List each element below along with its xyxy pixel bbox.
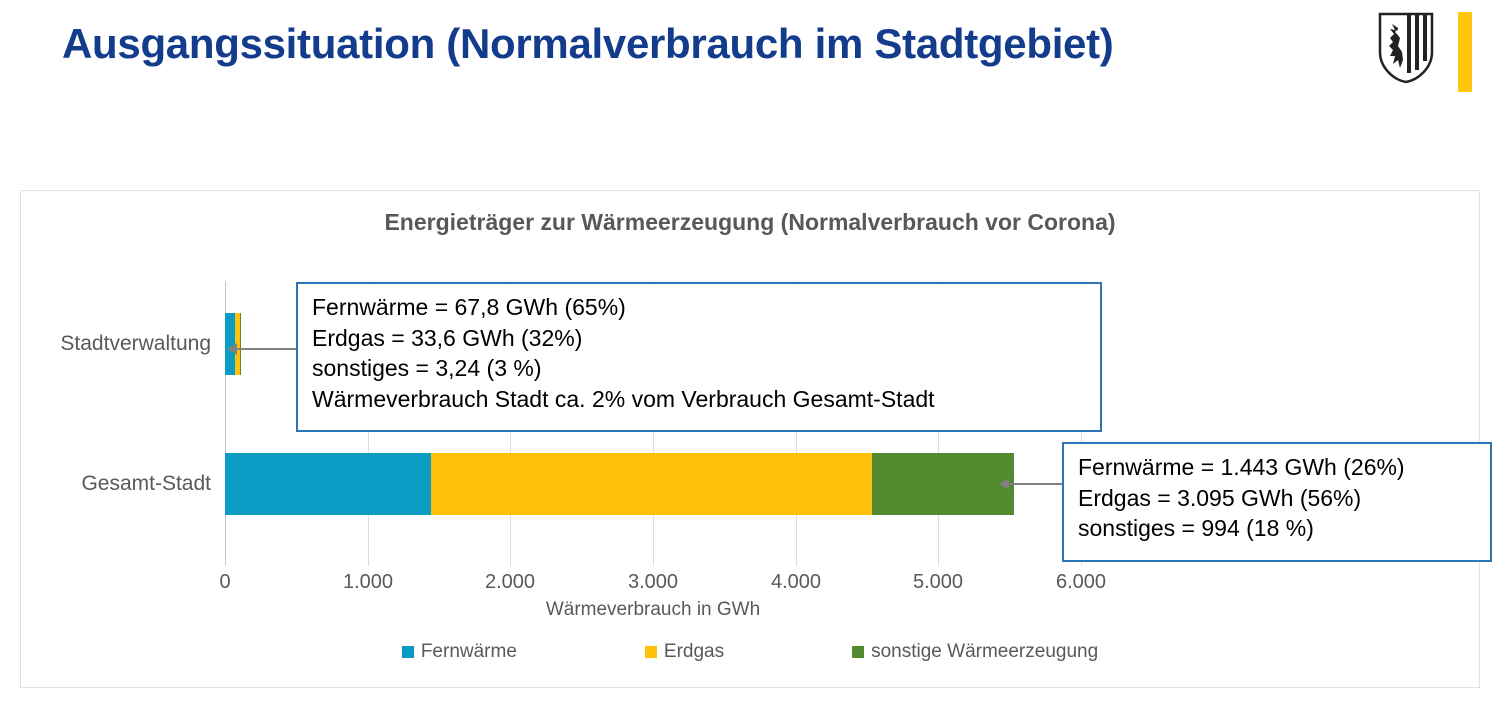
legend-item-erdgas[interactable]: Erdgas [645, 641, 724, 663]
x-tick-2000: 2.000 [485, 571, 535, 594]
callout-stadtverwaltung: Fernwärme = 67,8 GWh (65%) Erdgas = 33,6… [296, 282, 1102, 432]
x-tick-0: 0 [219, 571, 230, 594]
chart-legend: Fernwärme Erdgas sonstige Wärmeerzeugung [21, 641, 1479, 663]
legend-swatch-fernwaerme [402, 646, 414, 658]
callout-line: Fernwärme = 1.443 GWh (26%) [1078, 452, 1476, 483]
x-tick-6000: 6.000 [1056, 571, 1106, 594]
category-label-stadtverwaltung: Stadtverwaltung [60, 313, 211, 375]
callout-line: sonstiges = 3,24 (3 %) [312, 353, 1086, 384]
bar-segment-sonstige-stadtverwaltung [240, 313, 241, 375]
callout-line: Fernwärme = 67,8 GWh (65%) [312, 292, 1086, 323]
x-axis-title: Wärmeverbrauch in GWh [225, 599, 1081, 621]
legend-swatch-sonstige [852, 646, 864, 658]
legend-swatch-erdgas [645, 646, 657, 658]
x-tick-4000: 4.000 [771, 571, 821, 594]
legend-item-fernwaerme[interactable]: Fernwärme [402, 641, 517, 663]
callout-line: Wärmeverbrauch Stadt ca. 2% vom Verbrauc… [312, 384, 1086, 415]
callout-arrow-stadtverwaltung [236, 348, 298, 350]
coat-of-arms-icon [1378, 12, 1434, 84]
chart-title: Energieträger zur Wärmeerzeugung (Normal… [21, 209, 1479, 236]
callout-line: Erdgas = 3.095 GWh (56%) [1078, 483, 1476, 514]
x-tick-3000: 3.000 [628, 571, 678, 594]
callout-gesamtstadt: Fernwärme = 1.443 GWh (26%) Erdgas = 3.0… [1062, 442, 1492, 562]
chart-panel: Energieträger zur Wärmeerzeugung (Normal… [20, 190, 1480, 688]
bar-segment-erdgas-gesamtstadt [431, 453, 872, 515]
legend-label-erdgas: Erdgas [664, 641, 724, 663]
callout-line: sonstiges = 994 (18 %) [1078, 513, 1476, 544]
x-tick-1000: 1.000 [343, 571, 393, 594]
page-title: Ausgangssituation (Normalverbrauch im St… [62, 20, 1114, 68]
callout-line: Erdgas = 33,6 GWh (32%) [312, 323, 1086, 354]
category-label-gesamtstadt: Gesamt-Stadt [81, 453, 211, 515]
legend-label-sonstige: sonstige Wärmeerzeugung [871, 641, 1098, 663]
callout-arrow-gesamtstadt [1008, 483, 1064, 485]
x-tick-5000: 5.000 [913, 571, 963, 594]
bar-segment-sonstige-gesamtstadt [872, 453, 1014, 515]
accent-bar [1458, 12, 1472, 92]
legend-item-sonstige[interactable]: sonstige Wärmeerzeugung [852, 641, 1098, 663]
logo-block [1362, 10, 1482, 92]
x-axis: 0 1.000 2.000 3.000 4.000 5.000 6.000 [225, 571, 1081, 601]
bar-segment-fernwaerme-gesamtstadt [225, 453, 431, 515]
legend-label-fernwaerme: Fernwärme [421, 641, 517, 663]
